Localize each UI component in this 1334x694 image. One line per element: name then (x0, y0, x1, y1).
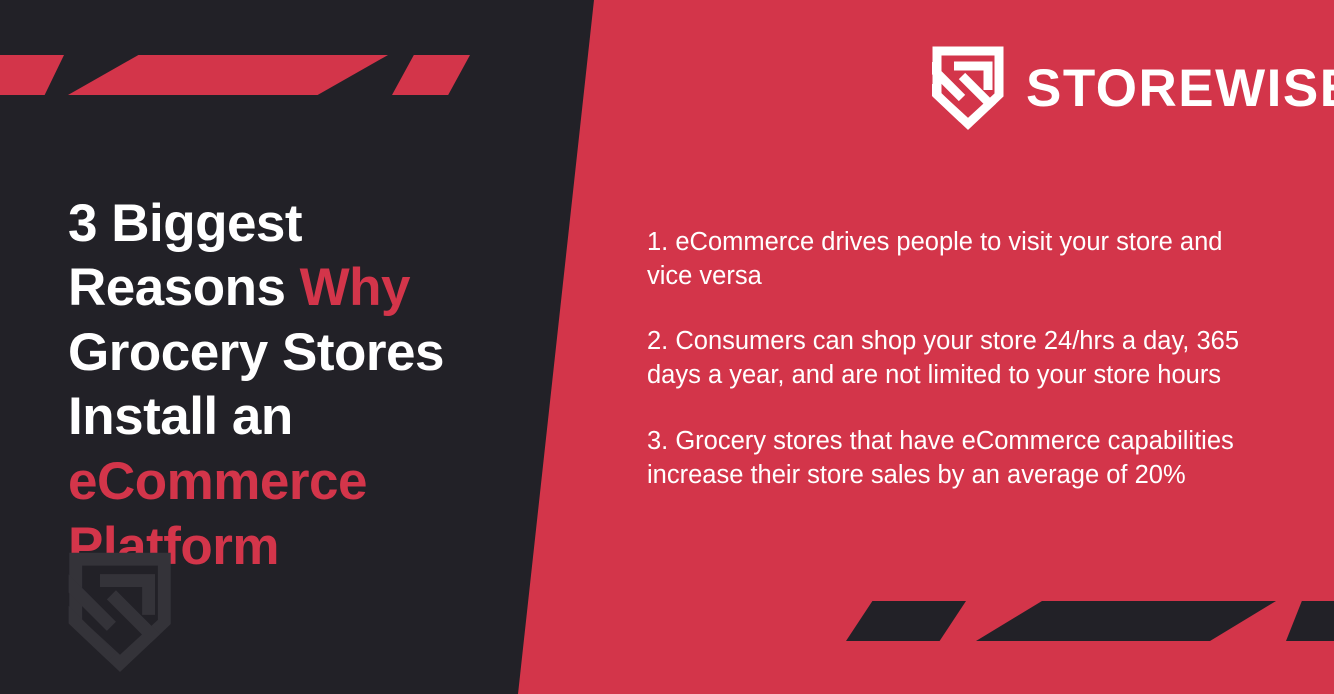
brand-lockup: STOREWISE (932, 46, 1334, 130)
stripe-decoration (68, 55, 388, 95)
stripe-decoration (846, 601, 966, 641)
bottom-right-stripe-group (846, 601, 1334, 641)
headline-line-2-plain: Reasons (68, 258, 300, 317)
headline-line-2-accent: Why (300, 258, 410, 317)
stripe-decoration (1286, 601, 1334, 641)
brand-name: STOREWISE (1026, 62, 1334, 115)
stripe-decoration (392, 55, 470, 95)
list-item: 3. Grocery stores that have eCommerce ca… (647, 424, 1255, 493)
page-title: 3 Biggest Reasons Why Grocery Stores Ins… (68, 192, 508, 580)
storewise-shield-icon (932, 46, 1004, 130)
headline-line-1: 3 Biggest (68, 194, 302, 253)
reasons-list: 1. eCommerce drives people to visit your… (647, 199, 1255, 492)
storewise-shield-watermark-icon (68, 552, 172, 672)
stripe-decoration (976, 601, 1276, 641)
stripe-decoration (0, 55, 64, 95)
headline-line-5: eCommerce (68, 452, 367, 511)
list-item: 1. eCommerce drives people to visit your… (647, 225, 1255, 294)
headline-line-4: Install an (68, 387, 293, 446)
top-left-stripe-group (0, 55, 470, 95)
slide-canvas: STOREWISE 3 Biggest Reasons Why Grocery … (0, 0, 1334, 694)
list-item: 2. Consumers can shop your store 24/hrs … (647, 324, 1255, 393)
headline-line-3: Grocery Stores (68, 323, 444, 382)
